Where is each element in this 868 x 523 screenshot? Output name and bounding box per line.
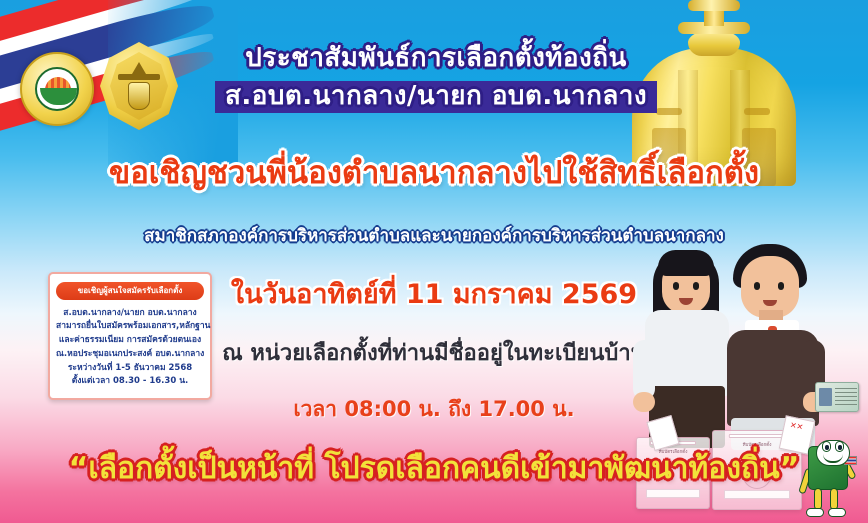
id-card-text-lines: [835, 388, 857, 406]
obt-seal-inner: [35, 67, 79, 111]
ect-urn: [128, 82, 150, 110]
bottom-slogan: “เลือกตั้งเป็นหน้าที่ โปรดเลือกคนดีเข้าม…: [0, 452, 868, 487]
woman-fringe: [658, 250, 714, 276]
ballot-box-seal-tape: [724, 490, 791, 499]
id-card-icon: [815, 382, 859, 412]
monument-detail: [744, 108, 770, 115]
man-eye: [778, 282, 784, 290]
card-line: สามารถยื่นใบสมัครพร้อมเอกสาร,หลักฐาน: [56, 320, 204, 334]
election-announcement-poster: ประชาสัมพันธ์การเลือกตั้งท้องถิ่น ส.อบต.…: [0, 0, 868, 523]
ballot-box-seal-tape: [646, 489, 701, 498]
woman-hand: [633, 392, 655, 412]
mascot-leg: [814, 488, 822, 510]
mascot-foot: [828, 508, 846, 517]
woman-eye: [673, 282, 679, 290]
man-mouth: [763, 300, 777, 306]
card-line: ตั้งแต่เวลา 08.30 - 16.30 น.: [56, 375, 204, 389]
ballot-box-slot: [729, 434, 785, 438]
ect-bar: [118, 74, 160, 80]
man-eye: [754, 282, 760, 290]
mascot-leg: [830, 488, 838, 510]
id-card-photo: [819, 388, 832, 406]
card-line: และค่าธรรมเนียม การสมัครด้วยตนเอง: [56, 334, 204, 348]
ballot-box-label: หีบบัตรเลือกตั้ง: [743, 441, 772, 448]
mascot-foot: [806, 508, 824, 517]
mascot-eye: [822, 441, 831, 452]
card-line: ส.อบต.นากลาง/นายก อบต.นากลาง: [56, 307, 204, 321]
ect-emblem-inner: [110, 52, 168, 120]
man-face: [741, 256, 799, 318]
page-title: ประชาสัมพันธ์การเลือกตั้งท้องถิ่น: [186, 44, 686, 74]
obt-seal-field: [40, 88, 78, 105]
woman-eye: [693, 282, 699, 290]
card-line: ณ.หอประชุมอเนกประสงค์ อบต.นากลาง: [56, 348, 204, 362]
page-subtitle: ส.อบต.นากลาง/นายก อบต.นากลาง: [215, 81, 657, 113]
ect-crest: [132, 62, 146, 74]
ballot-mark: ✕✕: [789, 421, 804, 432]
woman-mouth: [679, 298, 693, 305]
poster-title-block: ประชาสัมพันธ์การเลือกตั้งท้องถิ่น ส.อบต.…: [186, 44, 686, 113]
card-line: ระหว่างวันที่ 1-5 ธันวาคม 2568: [56, 362, 204, 376]
woman-blouse: [645, 310, 729, 396]
mascot-eye: [835, 441, 844, 452]
monument-finial: [688, 0, 740, 11]
woman-arm: [633, 340, 655, 400]
candidate-application-card: ขอเชิญผู้สนใจสมัครรับเลือกตั้ง ส.อบต.นาก…: [48, 272, 212, 400]
obt-seal-icon: [20, 52, 94, 126]
headline-invitation: ขอเชิญชวนพี่น้องตำบลนากลางไปใช้สิทธิ์เลื…: [0, 156, 868, 190]
card-header-badge: ขอเชิญผู้สนใจสมัครรับเลือกตั้ง: [56, 282, 204, 300]
